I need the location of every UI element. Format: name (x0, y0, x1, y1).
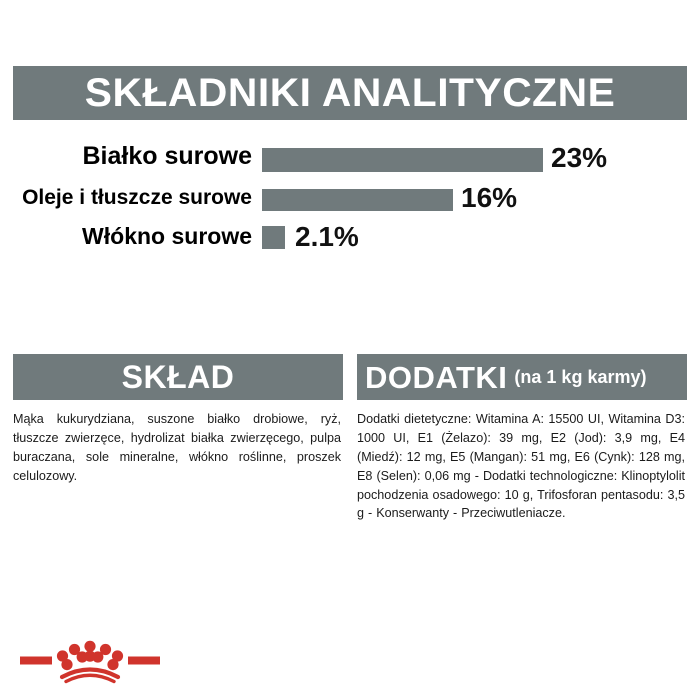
additives-panel: DODATKI (na 1 kg karmy) Dodatki dietetyc… (357, 354, 687, 523)
chart-row-label: Białko surowe (83, 144, 253, 169)
composition-panel: SKŁAD Mąka kukurydziana, suszone białko … (13, 354, 343, 486)
analytical-constituents-chart: Białko surowe 23% Oleje i tłuszcze surow… (0, 136, 700, 266)
chart-row: Włókno surowe 2.1% (0, 220, 700, 258)
chart-bar-fibre (262, 226, 285, 249)
royal-canin-crown-logo (20, 632, 160, 684)
chart-bar-fat (262, 189, 453, 211)
crown-icon (20, 632, 160, 684)
composition-title: SKŁAD (122, 361, 235, 393)
analytical-constituents-title: SKŁADNIKI ANALITYCZNE (85, 73, 616, 113)
additives-header-band: DODATKI (na 1 kg karmy) (357, 354, 687, 400)
chart-row-value: 16% (461, 184, 517, 212)
chart-row-label: Włókno surowe (82, 225, 252, 248)
additives-subtitle: (na 1 kg karmy) (514, 368, 646, 386)
chart-row-value: 2.1% (295, 223, 359, 251)
product-info-panel: SKŁADNIKI ANALITYCZNE Białko surowe 23% … (0, 0, 700, 700)
additives-body-text: Dodatki dietetyczne: Witamina A: 15500 U… (357, 410, 687, 523)
chart-row: Oleje i tłuszcze surowe 16% (0, 180, 700, 218)
composition-body-text: Mąka kukurydziana, suszone białko drobio… (13, 410, 343, 486)
chart-row: Białko surowe 23% (0, 136, 700, 176)
additives-title: DODATKI (365, 362, 507, 393)
chart-row-label: Oleje i tłuszcze surowe (22, 187, 252, 208)
chart-row-value: 23% (551, 144, 607, 172)
composition-header-band: SKŁAD (13, 354, 343, 400)
chart-bar-protein (262, 148, 543, 172)
analytical-constituents-header-band: SKŁADNIKI ANALITYCZNE (13, 66, 687, 120)
